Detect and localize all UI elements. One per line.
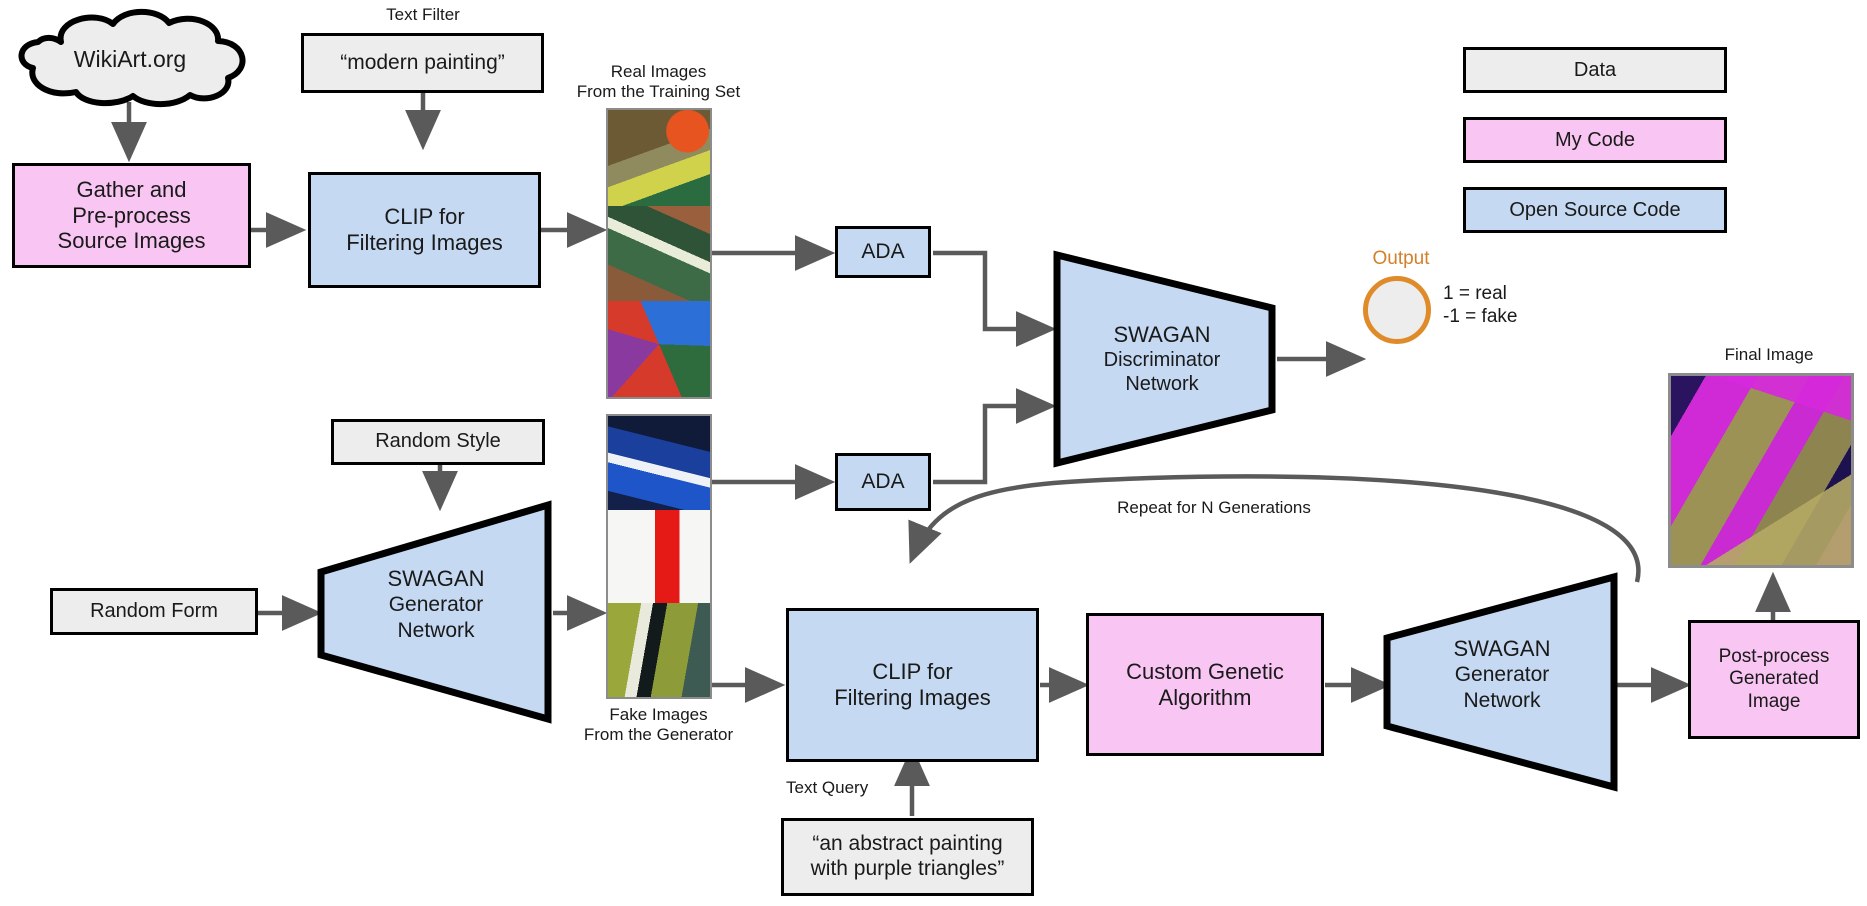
clip-top-line-1: CLIP for bbox=[384, 204, 464, 230]
real-images-caption-line-2: From the Training Set bbox=[556, 82, 761, 102]
gather-line-1: Gather and bbox=[76, 177, 186, 203]
fake-images-caption-line-2: From the Generator bbox=[556, 725, 761, 745]
final-image-thumbnail bbox=[1668, 373, 1854, 568]
wikiart-cloud-label: WikiArt.org bbox=[6, 46, 254, 73]
text-filter-caption: Text Filter bbox=[333, 5, 513, 25]
ada-bottom-box[interactable]: ADA bbox=[835, 453, 931, 511]
discriminator-label: SWAGAN Discriminator Network bbox=[1062, 322, 1262, 396]
generator-right-line-2: Generator bbox=[1396, 662, 1608, 687]
real-image-2 bbox=[608, 206, 710, 302]
gather-line-2: Pre-process bbox=[72, 203, 191, 229]
clip-filtering-top-box[interactable]: CLIP for Filtering Images bbox=[308, 172, 541, 288]
text-filter-box[interactable]: “modern painting” bbox=[301, 33, 544, 93]
fake-images-strip bbox=[606, 414, 712, 699]
random-style-box[interactable]: Random Style bbox=[331, 419, 545, 465]
postprocess-line-3: Image bbox=[1748, 691, 1801, 713]
repeat-loop-label: Repeat for N Generations bbox=[1069, 498, 1359, 518]
wikiart-cloud: WikiArt.org bbox=[6, 8, 254, 108]
generator-right-label: SWAGAN Generator Network bbox=[1396, 636, 1608, 713]
fake-image-3 bbox=[608, 603, 710, 697]
discriminator-line-3: Network bbox=[1062, 372, 1262, 396]
output-label: Output bbox=[1356, 248, 1446, 270]
final-image-caption: Final Image bbox=[1676, 345, 1862, 365]
post-process-box[interactable]: Post-process Generated Image bbox=[1688, 620, 1860, 739]
fake-images-caption: Fake Images From the Generator bbox=[556, 705, 761, 746]
gather-line-3: Source Images bbox=[58, 228, 206, 254]
generator-left-line-1: SWAGAN bbox=[330, 566, 542, 592]
legend-item-open-source-code: Open Source Code bbox=[1463, 187, 1727, 233]
generator-right-line-1: SWAGAN bbox=[1396, 636, 1608, 662]
clip-top-line-2: Filtering Images bbox=[346, 230, 503, 256]
real-image-3 bbox=[608, 301, 710, 397]
discriminator-line-1: SWAGAN bbox=[1062, 322, 1262, 348]
clip-filtering-bottom-box[interactable]: CLIP for Filtering Images bbox=[786, 608, 1039, 762]
real-images-caption-line-1: Real Images bbox=[556, 62, 761, 82]
legend-item-my-code: My Code bbox=[1463, 117, 1727, 163]
ada-top-box[interactable]: ADA bbox=[835, 226, 931, 278]
legend-item-data: Data bbox=[1463, 47, 1727, 93]
clip-bottom-line-2: Filtering Images bbox=[834, 685, 991, 711]
diagram-canvas: WikiArt.org Text Filter “modern painting… bbox=[0, 0, 1867, 906]
genetic-line-2: Algorithm bbox=[1159, 685, 1252, 711]
text-query-caption: Text Query bbox=[786, 778, 906, 798]
postprocess-line-1: Post-process bbox=[1719, 646, 1830, 668]
text-query-box[interactable]: “an abstract painting with purple triang… bbox=[781, 818, 1034, 896]
output-real-text: 1 = real bbox=[1443, 283, 1583, 306]
genetic-line-1: Custom Genetic bbox=[1126, 659, 1284, 685]
output-node bbox=[1363, 276, 1431, 344]
generator-right-line-3: Network bbox=[1396, 688, 1608, 713]
random-form-box[interactable]: Random Form bbox=[50, 588, 258, 635]
real-images-strip bbox=[606, 108, 712, 399]
generator-left-label: SWAGAN Generator Network bbox=[330, 566, 542, 643]
fake-image-2 bbox=[608, 510, 710, 604]
text-query-line-1: “an abstract painting bbox=[812, 832, 1002, 857]
clip-bottom-line-1: CLIP for bbox=[872, 659, 952, 685]
output-fake-text: -1 = fake bbox=[1443, 306, 1583, 329]
custom-genetic-algorithm-box[interactable]: Custom Genetic Algorithm bbox=[1086, 613, 1324, 756]
generator-left-line-2: Generator bbox=[330, 592, 542, 617]
real-images-caption: Real Images From the Training Set bbox=[556, 62, 761, 103]
gather-preprocess-box[interactable]: Gather and Pre-process Source Images bbox=[12, 163, 251, 268]
fake-image-1 bbox=[608, 416, 710, 510]
output-legend: 1 = real -1 = fake bbox=[1443, 283, 1583, 329]
real-image-1 bbox=[608, 110, 710, 206]
postprocess-line-2: Generated bbox=[1729, 668, 1819, 690]
fake-images-caption-line-1: Fake Images bbox=[556, 705, 761, 725]
generator-left-line-3: Network bbox=[330, 618, 542, 643]
text-query-line-2: with purple triangles” bbox=[811, 857, 1005, 882]
discriminator-line-2: Discriminator bbox=[1062, 348, 1262, 372]
